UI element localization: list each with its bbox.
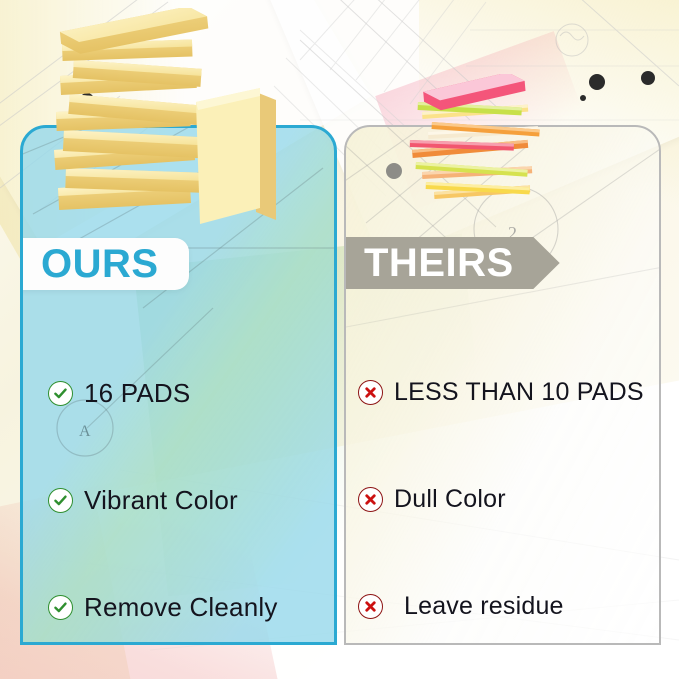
- feature-label: LESS THAN 10 PADS: [394, 378, 644, 407]
- cross-icon: [358, 487, 383, 512]
- cross-icon: [358, 594, 383, 619]
- feature-label: Dull Color: [394, 485, 506, 514]
- feature-label: Remove Cleanly: [84, 592, 278, 623]
- feature-row: Vibrant Color: [23, 447, 334, 554]
- feature-row: Remove Cleanly: [23, 554, 334, 645]
- competitor-sticky-sheet-pile: [398, 74, 578, 214]
- cross-icon: [358, 380, 383, 405]
- check-icon: [48, 595, 73, 620]
- feature-list-ours: 16 PADS Vibrant Color: [23, 340, 334, 645]
- feature-label: Vibrant Color: [84, 485, 238, 516]
- check-icon: [48, 488, 73, 513]
- feature-list-theirs: LESS THAN 10 PADS Dull Color: [346, 339, 659, 645]
- feature-row: Leave residue: [346, 553, 659, 645]
- comparison-infographic: A OURS 16 PADS: [0, 0, 679, 679]
- feature-label: Leave residue: [404, 592, 564, 621]
- yellow-sticky-pad-stack: [40, 8, 330, 233]
- feature-row: LESS THAN 10 PADS: [346, 339, 659, 446]
- feature-row: 16 PADS: [23, 340, 334, 447]
- feature-row: Dull Color: [346, 446, 659, 553]
- feature-label: 16 PADS: [84, 378, 190, 409]
- badge-theirs: THEIRS: [344, 237, 560, 289]
- badge-ours: OURS: [20, 238, 189, 290]
- check-icon: [48, 381, 73, 406]
